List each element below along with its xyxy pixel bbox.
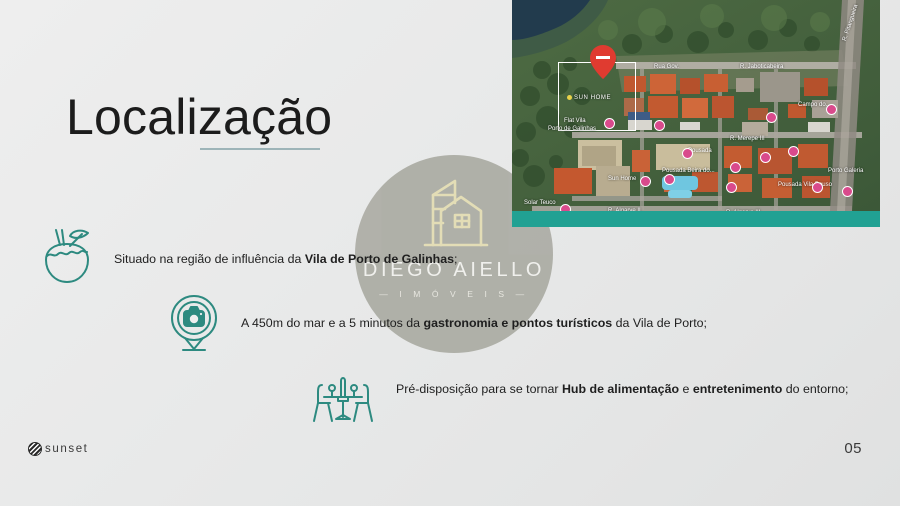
map-poi-marker[interactable] xyxy=(682,148,693,159)
location-map-image[interactable]: SUN HOME Rua Gov. R. Jaboticabeira R. Pi… xyxy=(512,0,880,227)
sunset-circle-icon xyxy=(28,442,42,456)
presentation-slide: Localização DIEGO AIELLO — I M Ó V E I S… xyxy=(0,0,900,506)
map-street-label: Rua Gov. xyxy=(654,64,679,70)
camera-pin-icon xyxy=(165,293,223,358)
map-poi-marker[interactable] xyxy=(730,162,741,173)
location-pin-icon xyxy=(590,45,616,79)
map-poi-marker[interactable] xyxy=(726,182,737,193)
map-street-label: Sun Home xyxy=(608,176,636,182)
page-number: 05 xyxy=(844,440,862,457)
bullet-text-2: A 450m do mar e a 5 minutos da gastronom… xyxy=(241,311,707,336)
page-title: Localização xyxy=(66,89,332,145)
sunset-brand-logo: sunset xyxy=(28,442,88,456)
map-street-label: R. Jaboticabeira xyxy=(740,64,783,70)
dining-table-icon xyxy=(308,367,378,428)
map-poi-marker[interactable] xyxy=(842,186,853,197)
bullet-item-2: A 450m do mar e a 5 minutos da gastronom… xyxy=(165,293,707,358)
bullet-item-1: Situado na região de influência da Vila … xyxy=(40,228,457,293)
map-poi-marker[interactable] xyxy=(640,176,651,187)
yellow-dot-icon xyxy=(567,95,572,100)
map-street-label: R. Merepe III xyxy=(730,136,765,142)
map-poi-marker[interactable] xyxy=(812,182,823,193)
map-poi-marker[interactable] xyxy=(664,174,675,185)
title-block: Localização xyxy=(66,89,332,145)
map-poi-marker[interactable] xyxy=(654,120,665,131)
map-street-label: Solar Teuco xyxy=(524,200,556,206)
map-poi-marker[interactable] xyxy=(604,118,615,129)
bullet-text-1: Situado na região de influência da Vila … xyxy=(114,247,457,272)
bullet-text-3: Pré-disposição para se tornar Hub de ali… xyxy=(396,377,866,402)
map-property-label: SUN HOME xyxy=(567,95,611,101)
coconut-drink-icon xyxy=(40,228,94,293)
map-street-label: Pousada Vila Pouso xyxy=(778,182,832,188)
map-street-label: Porto Galeria xyxy=(828,168,863,174)
map-property-label-text: SUN HOME xyxy=(574,95,611,101)
sunset-logo-text: sunset xyxy=(45,443,88,455)
map-poi-marker[interactable] xyxy=(826,104,837,115)
map-poi-marker[interactable] xyxy=(766,112,777,123)
map-poi-marker[interactable] xyxy=(760,152,771,163)
title-underline xyxy=(200,148,320,150)
map-poi-marker[interactable] xyxy=(788,146,799,157)
map-street-label: Porto de Galinhas xyxy=(548,126,596,132)
map-bottom-accent-bar xyxy=(512,211,880,227)
bullet-item-3: Pré-disposição para se tornar Hub de ali… xyxy=(308,367,866,428)
map-street-label: Flat Vila xyxy=(564,118,586,124)
